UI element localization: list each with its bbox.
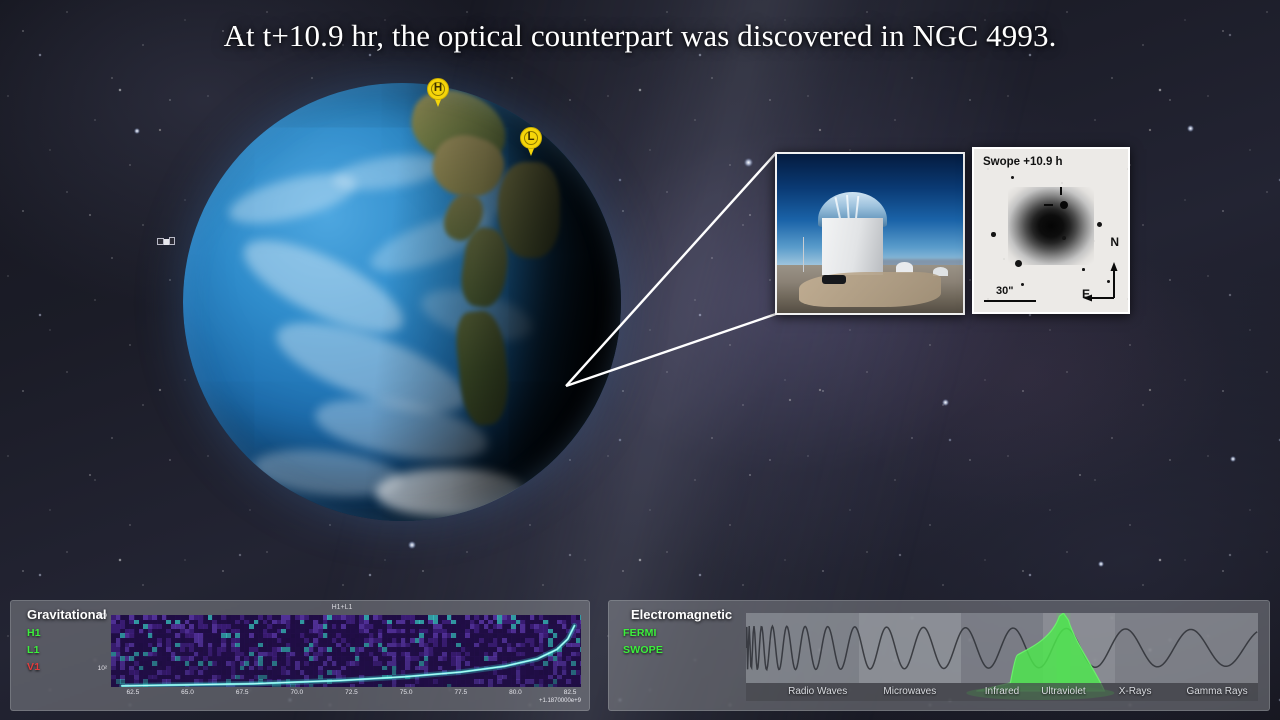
bright-star: [134, 128, 140, 134]
bright-star: [1098, 561, 1104, 567]
em-band-label: Gamma Rays: [1162, 683, 1272, 701]
earth-sphere: [183, 83, 621, 521]
hanford-marker[interactable]: H: [427, 78, 449, 108]
em-band-labels: Radio WavesMicrowavesInfraredUltraviolet…: [746, 683, 1258, 701]
scale-bar-label: 30": [996, 285, 1013, 297]
spectrogram-x-tick: 65.0: [181, 689, 194, 696]
electromagnetic-panel: Electromagnetic FERMI SWOPE Radio WavesM…: [608, 600, 1270, 711]
swope-image-label: Swope +10.9 h: [983, 156, 1063, 168]
ngc4993-galaxy: [1008, 187, 1094, 265]
compass-north-label: N: [1110, 235, 1119, 249]
spectrogram-x-tick: 72.5: [345, 689, 358, 696]
bright-star: [744, 158, 753, 167]
detector-h1-label: H1: [27, 627, 41, 639]
detector-l1-label: L1: [27, 644, 40, 656]
spectrogram-title: H1+L1: [103, 604, 581, 611]
bright-star: [408, 541, 416, 549]
spectrogram-x-tick: 82.5: [564, 689, 577, 696]
electromagnetic-panel-title: Electromagnetic: [631, 607, 732, 622]
bright-star: [1187, 125, 1194, 132]
gw-spectrogram: H1+L1 10³10² 62.565.067.570.072.575.077.…: [103, 607, 581, 700]
em-spectrum-chart: Radio WavesMicrowavesInfraredUltraviolet…: [746, 613, 1258, 701]
spectrogram-x-tick: 77.5: [454, 689, 467, 696]
detector-v1-label: V1: [27, 661, 40, 673]
spectrogram-x-tick: 67.5: [236, 689, 249, 696]
chirp-track: [111, 615, 581, 687]
livingston-marker[interactable]: L: [520, 127, 542, 157]
livingston-marker-label: L: [520, 127, 542, 148]
hanford-marker-label: H: [427, 78, 449, 99]
scene-root: At t+10.9 hr, the optical counterpart wa…: [0, 0, 1280, 720]
counterpart-tick-vertical: [1060, 187, 1062, 195]
compass-icon: [1080, 254, 1122, 306]
counterpart-tick-horizontal: [1044, 204, 1053, 206]
spectrogram-y-tick: 10³: [98, 613, 107, 620]
swope-discovery-image[interactable]: Swope +10.9 h 30" N E: [972, 147, 1130, 314]
instrument-swope-label: SWOPE: [623, 644, 663, 656]
bright-star: [1230, 456, 1236, 462]
earth-globe: [183, 83, 621, 521]
fermi-satellite: [157, 234, 175, 250]
optical-counterpart: [1060, 201, 1068, 209]
spectrogram-x-tick: 62.5: [127, 689, 140, 696]
spectrogram-x-tick: 80.0: [509, 689, 522, 696]
spectrogram-x-tick: 75.0: [400, 689, 413, 696]
page-title: At t+10.9 hr, the optical counterpart wa…: [0, 18, 1280, 54]
spectrogram-x-tick: 70.0: [290, 689, 303, 696]
spectrogram-y-tick: 10²: [98, 665, 107, 672]
spectrogram-plot: [111, 615, 581, 687]
instrument-fermi-label: FERMI: [623, 627, 657, 639]
gravitational-panel: Gravitational H1 L1 V1 H1+L1 10³10² 62.5…: [10, 600, 590, 711]
swope-observatory-photo[interactable]: [775, 152, 965, 315]
spectrogram-x-offset: +1.1870000e+9: [539, 698, 581, 704]
scale-bar: [984, 300, 1036, 303]
bright-star: [942, 399, 949, 406]
gravitational-panel-title: Gravitational: [27, 607, 106, 622]
